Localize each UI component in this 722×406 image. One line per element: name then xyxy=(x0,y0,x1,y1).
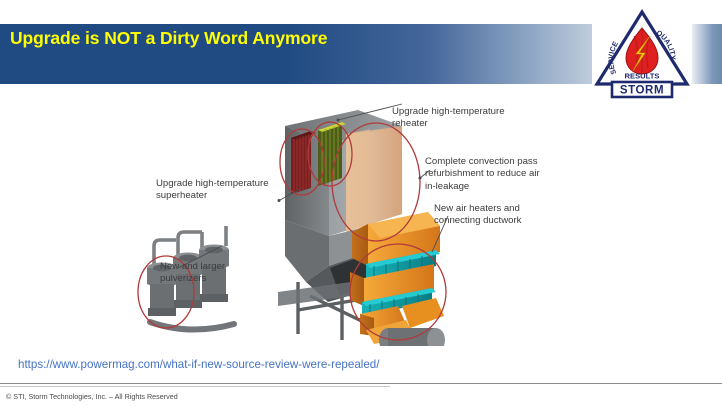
storm-logo: SERVICE QUALITY RESULTS STORM xyxy=(592,8,692,100)
label-air-heaters: New air heaters and connecting ductwork xyxy=(434,203,534,228)
label-convection: Complete convection pass refurbishment t… xyxy=(425,156,545,193)
footer-copyright: © STI, Storm Technologies, Inc. – All Ri… xyxy=(6,392,178,401)
logo-brand-text: STORM xyxy=(620,85,664,97)
logo-label-results: RESULTS xyxy=(625,72,660,81)
footer-divider-secondary xyxy=(0,386,390,387)
label-superheater: Upgrade high-temperature superheater xyxy=(156,178,296,203)
lower-ducts xyxy=(379,328,445,346)
label-reheater: Upgrade high-temperature reheater xyxy=(392,106,542,131)
label-pulverizers: New and larger pulverizers xyxy=(160,261,270,286)
source-url-link[interactable]: https://www.powermag.com/what-if-new-sou… xyxy=(18,358,379,371)
air-heater-ductwork xyxy=(350,212,444,344)
title-bar-gradient-tail xyxy=(690,24,722,84)
page-title: Upgrade is NOT a Dirty Word Anymore xyxy=(10,30,327,48)
slide-canvas: Upgrade is NOT a Dirty Word Anymore SERV… xyxy=(0,0,722,406)
footer-divider xyxy=(0,383,722,384)
